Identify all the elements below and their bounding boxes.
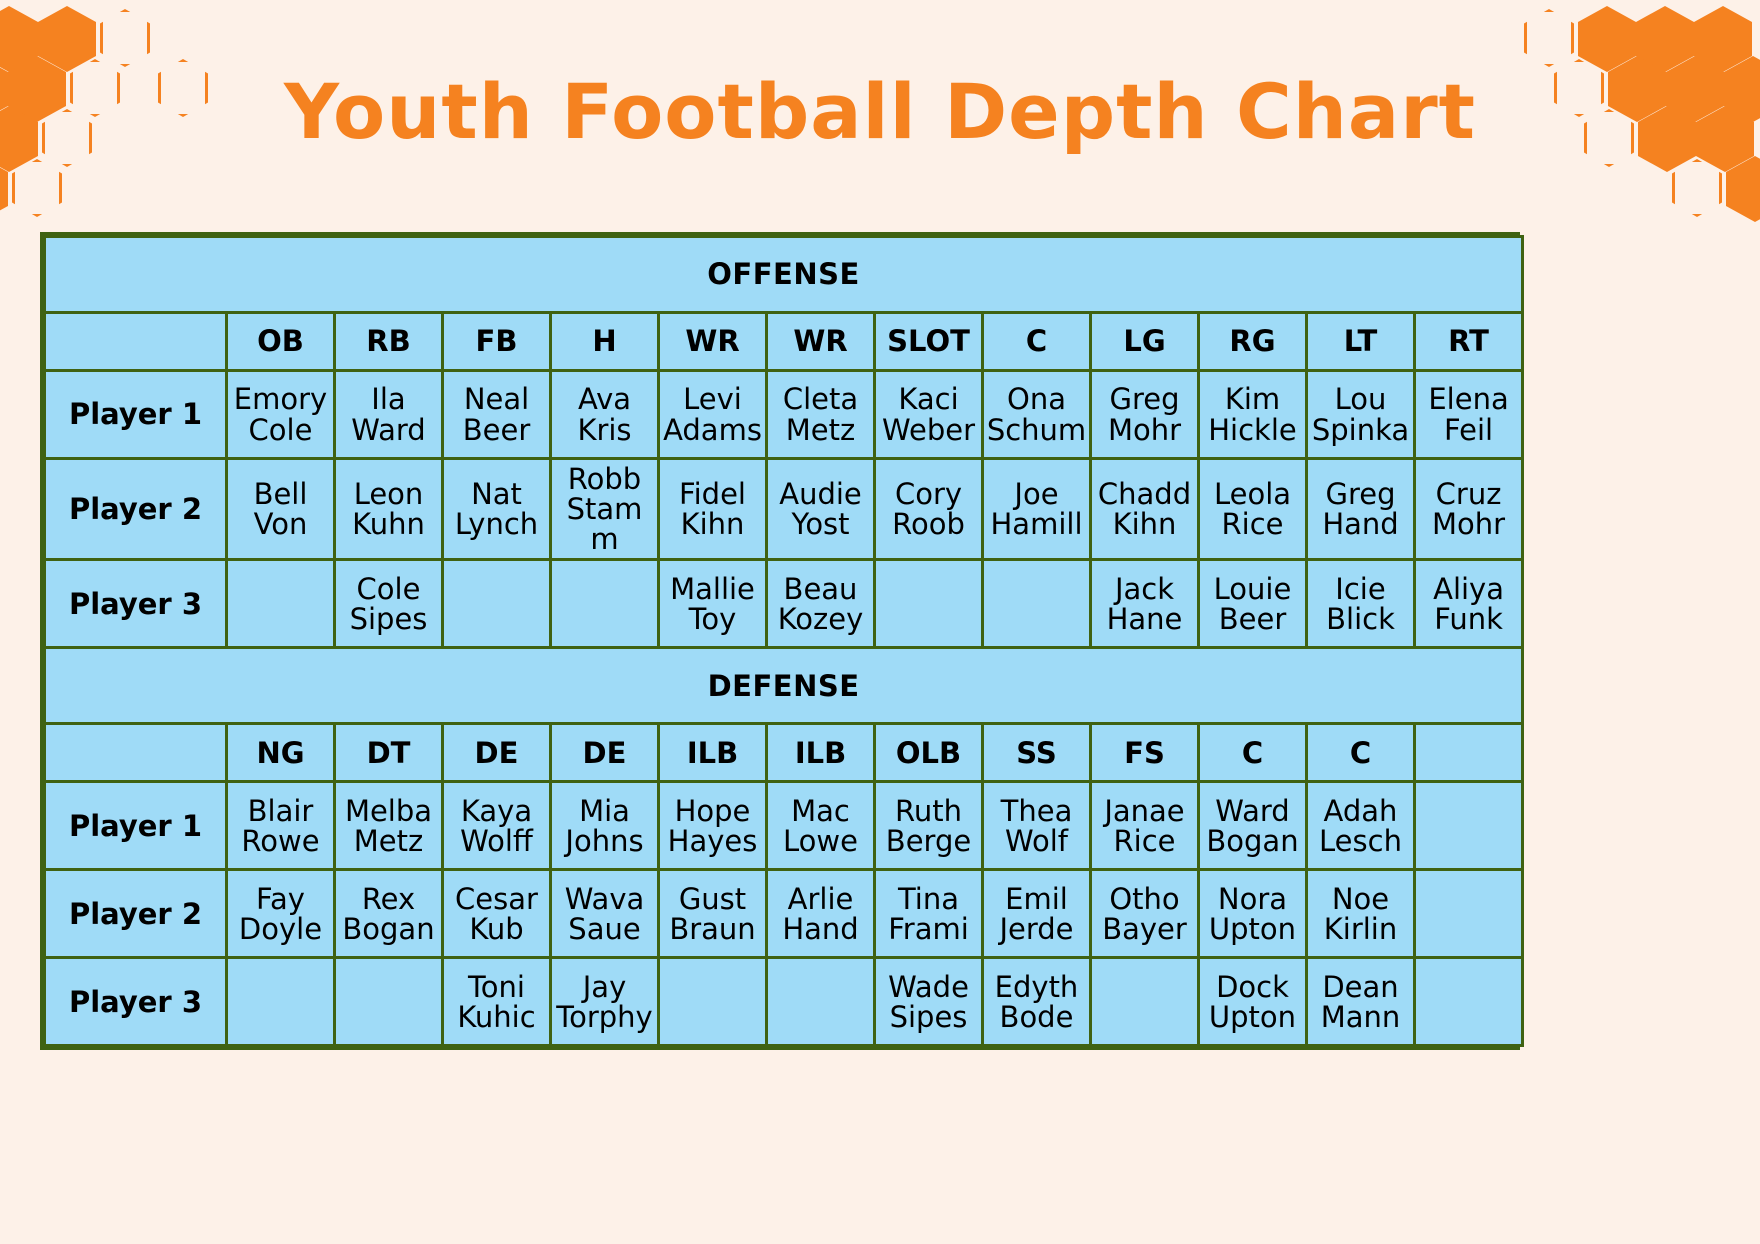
table-corner-cell (45, 724, 227, 782)
position-header[interactable]: WR (767, 313, 875, 371)
player-name-cell[interactable]: Greg Mohr (1091, 371, 1199, 459)
player-name-cell[interactable]: Cole Sipes (335, 560, 443, 648)
row-label: Player 1 (45, 782, 227, 870)
player-name-cell[interactable]: Emory Cole (227, 371, 335, 459)
player-name-cell[interactable]: Wava Saue (551, 870, 659, 958)
empty-cell[interactable] (227, 560, 335, 648)
position-header[interactable]: C (983, 313, 1091, 371)
section-banner-offense: OFFENSE (45, 237, 1523, 313)
position-header[interactable]: OLB (875, 724, 983, 782)
player-name-cell[interactable]: Leon Kuhn (335, 459, 443, 560)
position-header[interactable]: DE (551, 724, 659, 782)
section-banner-row: OFFENSE (45, 237, 1523, 313)
position-header[interactable]: LT (1307, 313, 1415, 371)
player-name-cell[interactable]: Icie Blick (1307, 560, 1415, 648)
empty-cell[interactable] (551, 560, 659, 648)
empty-cell[interactable] (443, 560, 551, 648)
position-header-row: OBRBFBHWRWRSLOTCLGRGLTRT (45, 313, 1523, 371)
player-name-cell[interactable]: Ward Bogan (1199, 782, 1307, 870)
player-name-cell[interactable]: Dock Upton (1199, 958, 1307, 1046)
position-header[interactable]: NG (227, 724, 335, 782)
player-name-cell[interactable]: Jay Torphy (551, 958, 659, 1046)
player-name-cell[interactable]: Beau Kozey (767, 560, 875, 648)
row-label: Player 3 (45, 958, 227, 1046)
empty-cell[interactable] (227, 958, 335, 1046)
table-row: Player 3Toni KuhicJay TorphyWade SipesEd… (45, 958, 1523, 1046)
position-header[interactable]: FB (443, 313, 551, 371)
empty-cell[interactable] (875, 560, 983, 648)
player-name-cell[interactable]: Fidel Kihn (659, 459, 767, 560)
position-header[interactable]: SS (983, 724, 1091, 782)
player-name-cell[interactable]: Cory Roob (875, 459, 983, 560)
position-header[interactable]: ILB (767, 724, 875, 782)
player-name-cell[interactable]: Emil Jerde (983, 870, 1091, 958)
table-row: Player 2Fay DoyleRex BoganCesar KubWava … (45, 870, 1523, 958)
section-banner-row: DEFENSE (45, 648, 1523, 724)
position-header[interactable]: SLOT (875, 313, 983, 371)
table-corner-cell (45, 313, 227, 371)
empty-cell[interactable] (983, 560, 1091, 648)
empty-cell[interactable] (1415, 958, 1523, 1046)
player-name-cell[interactable]: Ila Ward (335, 371, 443, 459)
row-label: Player 2 (45, 870, 227, 958)
position-header[interactable]: FS (1091, 724, 1199, 782)
position-header[interactable]: DT (335, 724, 443, 782)
position-header[interactable]: RB (335, 313, 443, 371)
player-name-cell[interactable]: Robb Stamm (551, 459, 659, 560)
row-label: Player 2 (45, 459, 227, 560)
player-name-cell[interactable]: Cruz Mohr (1415, 459, 1523, 560)
position-header[interactable]: C (1307, 724, 1415, 782)
position-header[interactable]: RT (1415, 313, 1523, 371)
player-name-cell[interactable]: Nora Upton (1199, 870, 1307, 958)
player-name-cell[interactable]: Elena Feil (1415, 371, 1523, 459)
empty-cell[interactable] (1091, 958, 1199, 1046)
player-name-cell[interactable]: Kaci Weber (875, 371, 983, 459)
player-name-cell[interactable]: Greg Hand (1307, 459, 1415, 560)
section-banner-defense: DEFENSE (45, 648, 1523, 724)
player-name-cell[interactable]: Bell Von (227, 459, 335, 560)
player-name-cell[interactable]: Lou Spinka (1307, 371, 1415, 459)
player-name-cell[interactable]: Wade Sipes (875, 958, 983, 1046)
player-name-cell[interactable]: Kaya Wolff (443, 782, 551, 870)
position-header[interactable]: ILB (659, 724, 767, 782)
player-name-cell[interactable]: Jack Hane (1091, 560, 1199, 648)
player-name-cell[interactable]: Mac Lowe (767, 782, 875, 870)
player-name-cell[interactable]: Fay Doyle (227, 870, 335, 958)
position-header[interactable]: DE (443, 724, 551, 782)
player-name-cell[interactable]: Adah Lesch (1307, 782, 1415, 870)
player-name-cell[interactable]: Mia Johns (551, 782, 659, 870)
position-header[interactable]: C (1199, 724, 1307, 782)
player-name-cell[interactable]: Ona Schum (983, 371, 1091, 459)
empty-cell[interactable] (1415, 782, 1523, 870)
empty-cell[interactable] (335, 958, 443, 1046)
player-name-cell[interactable]: Chadd Kihn (1091, 459, 1199, 560)
player-name-cell[interactable]: Louie Beer (1199, 560, 1307, 648)
table-row: Player 1Blair RoweMelba MetzKaya WolffMi… (45, 782, 1523, 870)
player-name-cell[interactable]: Tina Frami (875, 870, 983, 958)
table-row: Player 3Cole SipesMallie ToyBeau KozeyJa… (45, 560, 1523, 648)
position-header[interactable]: RG (1199, 313, 1307, 371)
player-name-cell[interactable]: Levi Adams (659, 371, 767, 459)
depth-chart-table: OFFENSEOBRBFBHWRWRSLOTCLGRGLTRTPlayer 1E… (43, 235, 1524, 1047)
table-row: Player 1Emory ColeIla WardNeal BeerAva K… (45, 371, 1523, 459)
player-name-cell[interactable]: Otho Bayer (1091, 870, 1199, 958)
player-name-cell[interactable]: Edyth Bode (983, 958, 1091, 1046)
player-name-cell[interactable]: Melba Metz (335, 782, 443, 870)
empty-cell[interactable] (1415, 870, 1523, 958)
player-name-cell[interactable]: Hope Hayes (659, 782, 767, 870)
player-name-cell[interactable]: Noe Kirlin (1307, 870, 1415, 958)
player-name-cell[interactable]: Aliya Funk (1415, 560, 1523, 648)
page-header: Youth Football Depth Chart (0, 0, 1760, 152)
player-name-cell[interactable]: Janae Rice (1091, 782, 1199, 870)
player-name-cell[interactable]: Audie Yost (767, 459, 875, 560)
player-name-cell[interactable]: Leola Rice (1199, 459, 1307, 560)
player-name-cell[interactable]: Ruth Berge (875, 782, 983, 870)
player-name-cell[interactable]: Rex Bogan (335, 870, 443, 958)
player-name-cell[interactable]: Joe Hamill (983, 459, 1091, 560)
player-name-cell[interactable]: Toni Kuhic (443, 958, 551, 1046)
position-header[interactable] (1415, 724, 1523, 782)
player-name-cell[interactable]: Arlie Hand (767, 870, 875, 958)
player-name-cell[interactable]: Mallie Toy (659, 560, 767, 648)
position-header[interactable]: H (551, 313, 659, 371)
player-name-cell[interactable]: Blair Rowe (227, 782, 335, 870)
player-name-cell[interactable]: Cleta Metz (767, 371, 875, 459)
page-title: Youth Football Depth Chart (0, 72, 1760, 152)
player-name-cell[interactable]: Kim Hickle (1199, 371, 1307, 459)
position-header-row: NGDTDEDEILBILBOLBSSFSCC (45, 724, 1523, 782)
player-name-cell[interactable]: Gust Braun (659, 870, 767, 958)
player-name-cell[interactable]: Cesar Kub (443, 870, 551, 958)
position-header[interactable]: LG (1091, 313, 1199, 371)
row-label: Player 3 (45, 560, 227, 648)
player-name-cell[interactable]: Neal Beer (443, 371, 551, 459)
empty-cell[interactable] (767, 958, 875, 1046)
table-row: Player 2Bell VonLeon KuhnNat LynchRobb S… (45, 459, 1523, 560)
position-header[interactable]: WR (659, 313, 767, 371)
player-name-cell[interactable]: Nat Lynch (443, 459, 551, 560)
position-header[interactable]: OB (227, 313, 335, 371)
row-label: Player 1 (45, 371, 227, 459)
player-name-cell[interactable]: Thea Wolf (983, 782, 1091, 870)
empty-cell[interactable] (659, 958, 767, 1046)
player-name-cell[interactable]: Ava Kris (551, 371, 659, 459)
depth-chart-board: OFFENSEOBRBFBHWRWRSLOTCLGRGLTRTPlayer 1E… (40, 232, 1520, 1050)
player-name-cell[interactable]: Dean Mann (1307, 958, 1415, 1046)
